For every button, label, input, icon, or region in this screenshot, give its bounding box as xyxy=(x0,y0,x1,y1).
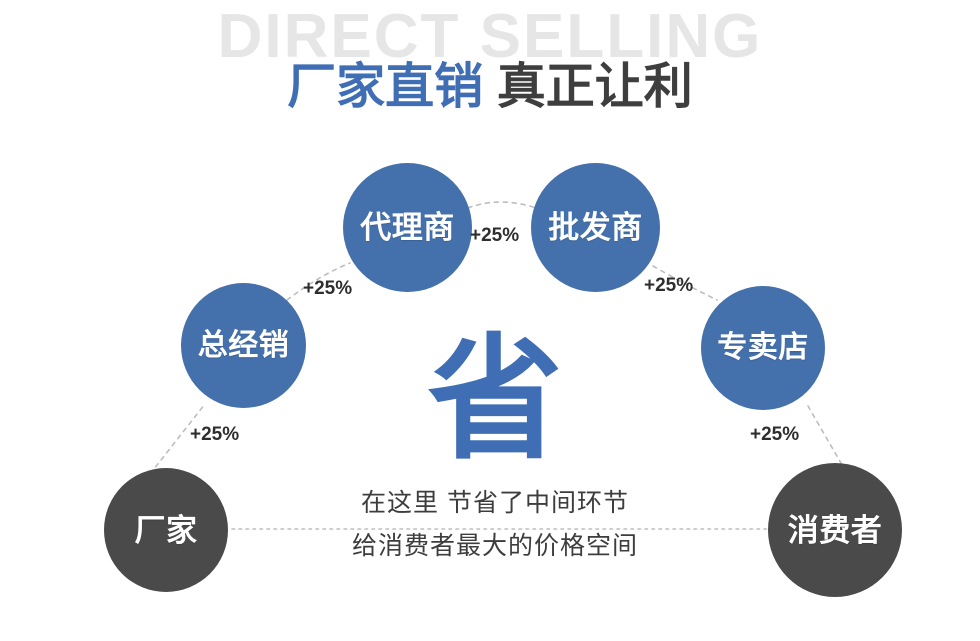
node-distributor-label: 总经销 xyxy=(198,331,290,361)
node-consumer[interactable]: 消费者 xyxy=(768,463,902,597)
savings-caption: 在这里 节省了中间环节 给消费者最大的价格空间 xyxy=(300,487,690,564)
markup-label-factory-distributor: +25% xyxy=(190,424,239,446)
node-wholesaler-label: 批发商 xyxy=(548,212,643,243)
node-distributor[interactable]: 总经销 xyxy=(181,283,306,408)
savings-glyph: 省 xyxy=(395,332,595,467)
node-agent-label: 代理商 xyxy=(360,212,455,243)
node-factory[interactable]: 厂家 xyxy=(104,468,228,592)
markup-label-store-consumer: +25% xyxy=(750,424,799,446)
markup-label-agent-wholesaler: +25% xyxy=(470,225,519,247)
markup-label-distributor-agent: +25% xyxy=(303,278,352,300)
wire-store-consumer xyxy=(808,406,845,470)
node-consumer-label: 消费者 xyxy=(788,515,883,546)
markup-label-wholesaler-store: +25% xyxy=(644,275,693,297)
savings-caption-line-1: 在这里 节省了中间环节 xyxy=(300,487,690,521)
node-wholesaler[interactable]: 批发商 xyxy=(531,163,660,292)
wire-agent-wholesaler xyxy=(468,202,536,208)
node-factory-label: 厂家 xyxy=(135,515,198,546)
savings-caption-line-2: 给消费者最大的价格空间 xyxy=(300,530,690,564)
node-agent[interactable]: 代理商 xyxy=(343,163,472,292)
node-store-label: 专卖店 xyxy=(717,333,809,363)
infographic-canvas: DIRECT SELLING 厂家直销 真正让利 代理商 批发商 总经销 专 xyxy=(0,0,980,641)
node-store[interactable]: 专卖店 xyxy=(701,286,825,410)
